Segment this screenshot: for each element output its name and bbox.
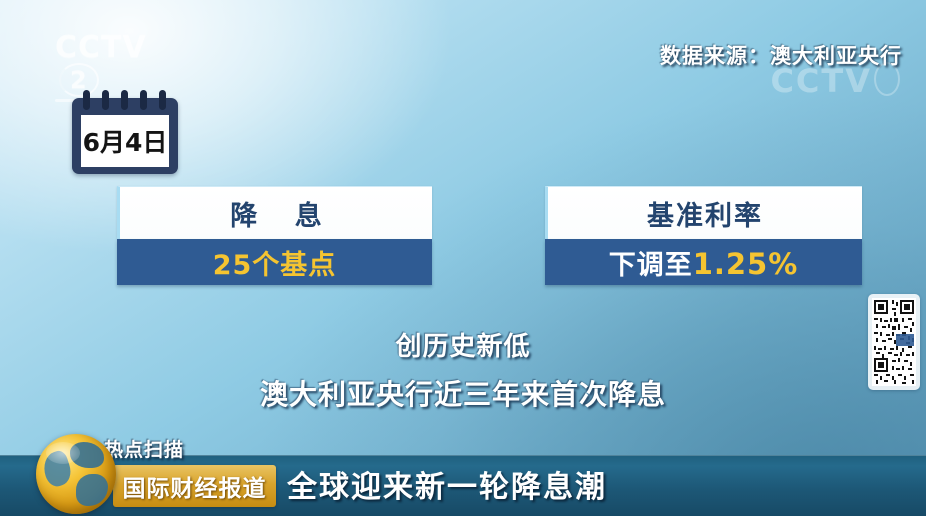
banner-headline: 全球迎来新一轮降息潮: [287, 462, 607, 506]
program-label-badge: 国际财经报道: [113, 465, 276, 507]
info-card-right-header: 基准利率: [545, 186, 862, 239]
info-card-right-value-prefix: 下调至: [609, 250, 693, 281]
calendar-ring-icon: [140, 90, 147, 110]
calendar-date-label: 6月4日: [83, 123, 168, 159]
info-card-left-title: 降 息: [216, 194, 335, 233]
cctv2-channel-logo: CCTV2 财经: [55, 33, 185, 95]
info-card-right-value-number: 1.25%: [693, 247, 799, 281]
info-card-right-value: 下调至1.25%: [609, 243, 799, 282]
headline-block: 创历史新低 澳大利亚央行近三年来首次降息: [0, 326, 926, 413]
info-card-right-title: 基准利率: [647, 194, 763, 233]
calendar-ring-icon: [83, 90, 90, 110]
broadcast-graphic-screen: CCTV2 财经 CCTV 数据来源：澳大利亚央行 6月4日 降 息 25个基点: [0, 0, 926, 516]
calendar-rings: [83, 90, 167, 112]
info-card-right-value-row: 下调至1.25%: [545, 239, 862, 285]
info-card-left-header: 降 息: [117, 186, 432, 239]
calendar-ring-icon: [159, 90, 166, 110]
channel-logo-letters: CCTV: [55, 30, 147, 65]
info-card-rate-cut: 降 息 25个基点: [117, 186, 432, 285]
qr-code-icon[interactable]: [868, 294, 920, 390]
calendar-ring-icon: [102, 90, 109, 110]
calendar-icon: 6月4日: [72, 90, 178, 174]
data-source-note: 数据来源：澳大利亚央行: [660, 40, 902, 70]
calendar-page: 6月4日: [81, 115, 169, 167]
info-card-left-value: 25个基点: [213, 243, 337, 282]
info-card-benchmark-rate: 基准利率 下调至1.25%: [545, 186, 862, 285]
headline-line-1: 创历史新低: [0, 326, 926, 363]
lower-third-banner: 全球迎来新一轮降息潮 国际财经报道: [0, 455, 926, 516]
channel-logo-text: CCTV2: [55, 33, 185, 97]
info-card-left-value-row: 25个基点: [117, 239, 432, 285]
segment-tag: 热点扫描: [104, 435, 184, 462]
qr-code-graphic: [872, 298, 916, 386]
globe-highlight: [46, 442, 80, 464]
headline-line-2: 澳大利亚央行近三年来首次降息: [0, 373, 926, 413]
calendar-ring-icon: [121, 90, 128, 110]
program-label-text: 国际财经报道: [123, 469, 267, 503]
globe-landmass: [76, 474, 108, 506]
globe-icon: [36, 434, 116, 514]
